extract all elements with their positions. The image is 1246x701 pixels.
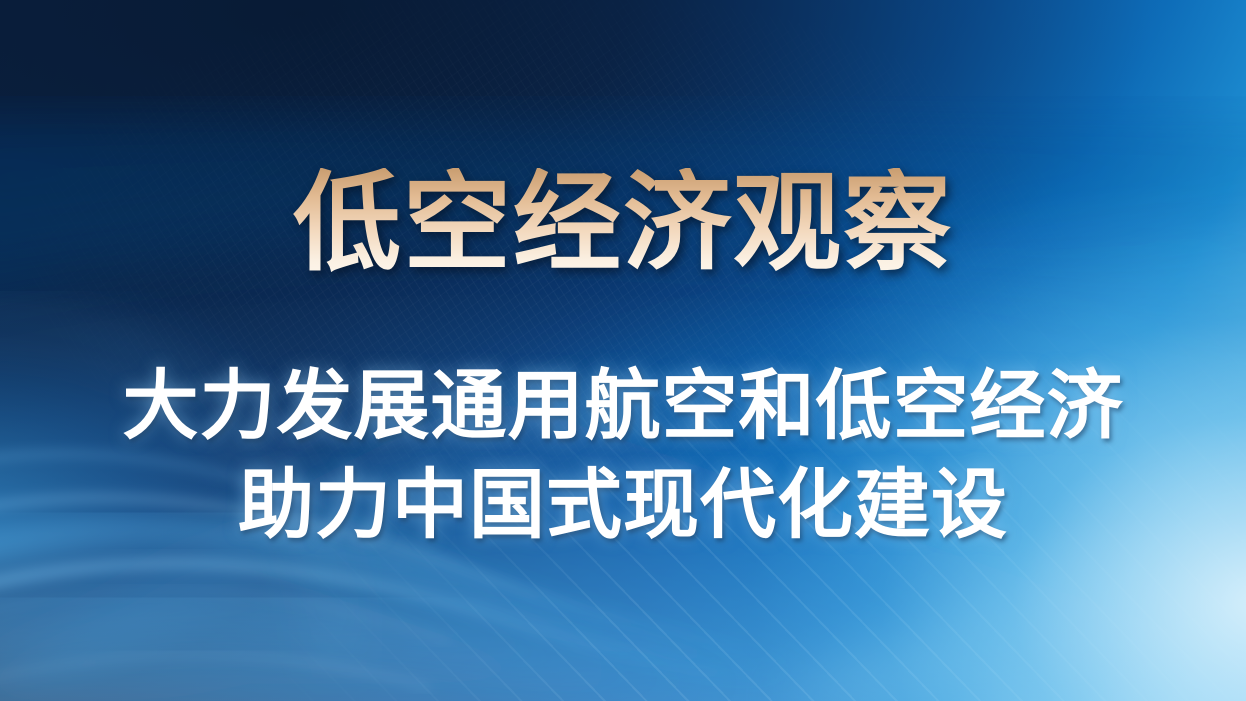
poster-subtitle-line-2: 助力中国式现代化建设 xyxy=(0,443,1246,553)
poster-content: 低空经济观察 大力发展通用航空和低空经济 助力中国式现代化建设 xyxy=(0,0,1246,701)
poster-subtitle-line-1: 大力发展通用航空和低空经济 xyxy=(0,344,1246,454)
poster-title: 低空经济观察 xyxy=(0,168,1246,280)
poster-banner: 低空经济观察 大力发展通用航空和低空经济 助力中国式现代化建设 xyxy=(0,0,1246,701)
